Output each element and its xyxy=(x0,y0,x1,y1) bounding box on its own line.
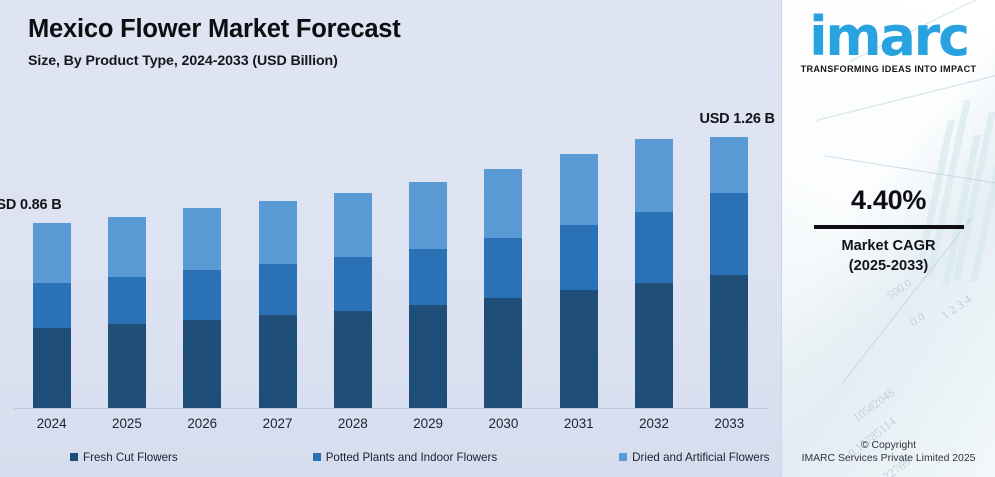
bar-segment xyxy=(560,225,598,290)
logo-tagline: TRANSFORMING IDEAS INTO IMPACT xyxy=(782,64,995,74)
bar-column-2027 xyxy=(240,96,315,408)
bar-stack xyxy=(409,182,447,408)
x-axis-labels: 2024202520262027202820292030203120322033 xyxy=(14,409,767,437)
logo-wordmark: imarc xyxy=(782,12,995,62)
bar-segment xyxy=(259,264,297,316)
chart-header: Mexico Flower Market Forecast Size, By P… xyxy=(0,0,781,69)
chart-legend: Fresh Cut FlowersPotted Plants and Indoo… xyxy=(0,444,781,470)
bar-segment xyxy=(560,290,598,408)
bar-segment xyxy=(409,305,447,408)
bar-segment xyxy=(409,182,447,249)
bar-segment xyxy=(108,217,146,277)
chart-panel: Mexico Flower Market Forecast Size, By P… xyxy=(0,0,781,477)
bar-stack xyxy=(560,154,598,408)
bar-segment xyxy=(334,311,372,408)
bar-segment xyxy=(635,283,673,408)
plot-area: USD 0.86 BUSD 1.26 B xyxy=(0,96,781,408)
cagr-block: 4.40% Market CAGR (2025-2033) xyxy=(782,185,995,274)
bar-segment xyxy=(484,298,522,408)
bar-segment xyxy=(334,257,372,311)
x-axis-tick-2030: 2030 xyxy=(466,416,541,431)
x-axis-tick-2026: 2026 xyxy=(165,416,240,431)
cagr-divider xyxy=(814,225,964,229)
bar-stack xyxy=(108,217,146,408)
x-axis-tick-2031: 2031 xyxy=(541,416,616,431)
x-axis-tick-2032: 2032 xyxy=(617,416,692,431)
cagr-period-label: (2025-2033) xyxy=(782,258,995,274)
bar-segment xyxy=(108,324,146,408)
bar-segment xyxy=(33,328,71,408)
x-axis-tick-2029: 2029 xyxy=(391,416,466,431)
brand-content: imarc TRANSFORMING IDEAS INTO IMPACT 4.4… xyxy=(782,0,995,477)
bar-column-2031 xyxy=(541,96,616,408)
bar-segment xyxy=(33,283,71,328)
legend-label: Potted Plants and Indoor Flowers xyxy=(326,451,497,464)
copyright-line-1: © Copyright xyxy=(782,440,995,451)
bar-column-2030 xyxy=(466,96,541,408)
legend-swatch-icon xyxy=(70,453,78,461)
bar-stack xyxy=(484,169,522,408)
bar-stack xyxy=(33,223,71,408)
chart-subtitle: Size, By Product Type, 2024-2033 (USD Bi… xyxy=(28,53,781,69)
x-axis-tick-2033: 2033 xyxy=(692,416,767,431)
bar-segment xyxy=(484,169,522,238)
brand-panel: 500.0 0.0 1 2 3 4 10582048 0.15785114 22… xyxy=(781,0,995,477)
legend-label: Dried and Artificial Flowers xyxy=(632,451,769,464)
bar-column-2024: USD 0.86 B xyxy=(14,96,89,408)
bar-segment xyxy=(484,238,522,298)
bar-segment xyxy=(560,154,598,225)
legend-item-1[interactable]: Potted Plants and Indoor Flowers xyxy=(313,451,497,464)
bar-segment xyxy=(635,212,673,283)
bar-stack xyxy=(710,137,748,408)
bar-segment xyxy=(108,277,146,324)
cagr-value: 4.40% xyxy=(782,185,995,216)
bar-value-label: USD 1.26 B xyxy=(699,111,774,127)
bar-segment xyxy=(710,137,748,193)
legend-item-0[interactable]: Fresh Cut Flowers xyxy=(70,451,178,464)
copyright-block: © Copyright IMARC Services Private Limit… xyxy=(782,440,995,464)
imarc-logo: imarc TRANSFORMING IDEAS INTO IMPACT xyxy=(782,0,995,74)
x-axis-tick-2025: 2025 xyxy=(89,416,164,431)
bar-value-label: USD 0.86 B xyxy=(0,197,62,213)
bar-segment xyxy=(183,270,221,319)
x-axis-tick-2024: 2024 xyxy=(14,416,89,431)
bar-stack xyxy=(259,201,297,408)
bar-segment xyxy=(259,201,297,263)
x-axis-tick-2027: 2027 xyxy=(240,416,315,431)
bar-column-2028 xyxy=(315,96,390,408)
bar-segment xyxy=(259,315,297,408)
bar-column-2026 xyxy=(165,96,240,408)
bar-segment xyxy=(33,223,71,283)
bar-column-2025 xyxy=(89,96,164,408)
legend-swatch-icon xyxy=(313,453,321,461)
chart-screenshot: Mexico Flower Market Forecast Size, By P… xyxy=(0,0,995,477)
bar-segment xyxy=(183,208,221,270)
copyright-line-2: IMARC Services Private Limited 2025 xyxy=(782,453,995,464)
bar-stack xyxy=(183,208,221,408)
x-axis-tick-2028: 2028 xyxy=(315,416,390,431)
bar-segment xyxy=(635,139,673,212)
bar-column-2032 xyxy=(617,96,692,408)
bar-segment xyxy=(710,193,748,275)
bar-column-2029 xyxy=(391,96,466,408)
bar-segment xyxy=(183,320,221,408)
legend-item-2[interactable]: Dried and Artificial Flowers xyxy=(619,451,769,464)
bar-group: USD 0.86 BUSD 1.26 B xyxy=(14,96,767,408)
cagr-caption-label: Market CAGR xyxy=(782,238,995,254)
legend-label: Fresh Cut Flowers xyxy=(83,451,178,464)
bar-segment xyxy=(710,275,748,408)
page-title: Mexico Flower Market Forecast xyxy=(28,14,781,44)
bar-column-2033: USD 1.26 B xyxy=(692,96,767,408)
bar-stack xyxy=(635,139,673,408)
bar-stack xyxy=(334,193,372,408)
bar-segment xyxy=(409,249,447,305)
bar-segment xyxy=(334,193,372,258)
legend-swatch-icon xyxy=(619,453,627,461)
